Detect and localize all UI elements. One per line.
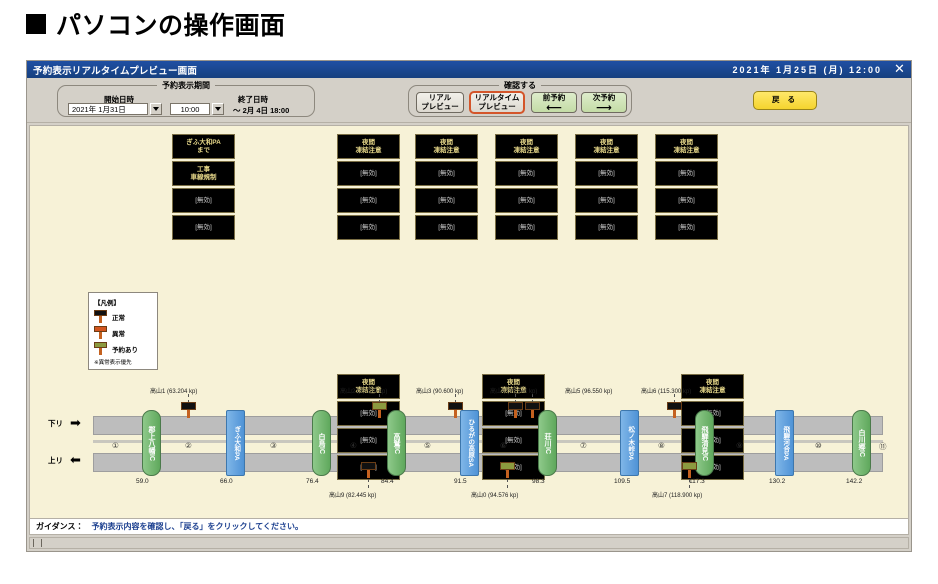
top-sign-panel-line: [無効]	[360, 197, 377, 204]
start-date-input[interactable]: 2021年 1月31日	[68, 103, 148, 115]
period-fieldset: 予約表示期間 開始日時 終了日時 2021年 1月31日 10:00 ～ 2月 …	[57, 85, 315, 117]
top-sign-panel-line: [無効]	[598, 170, 615, 177]
route-node-km: 130.2	[769, 478, 785, 485]
route-node-pa[interactable]: ひるがの高原SA	[460, 410, 479, 476]
kp-marker-label: 高山9 (82.445 kp)	[329, 490, 376, 499]
top-sign-panel[interactable]: 工事車線規制	[172, 161, 235, 186]
route-segment-number: ①	[112, 441, 119, 450]
kp-marker-label: 高山4 (95.940 kp)	[490, 386, 537, 395]
top-sign-panel-line: [無効]	[438, 224, 455, 231]
route-segment-number: ⑦	[580, 441, 587, 450]
start-time-dropdown-button[interactable]	[212, 103, 224, 115]
chevron-down-icon	[215, 107, 221, 111]
legend-item: 正常	[94, 310, 152, 323]
route-node-ic[interactable]: 白鳥IC	[312, 410, 331, 476]
kp-marker[interactable]	[525, 402, 540, 418]
legend-marker-icon	[94, 326, 107, 339]
top-sign-panel-line: 夜間	[680, 139, 693, 146]
top-sign-panel-line: [無効]	[678, 197, 695, 204]
top-sign-panel[interactable]: [無効]	[655, 215, 718, 240]
route-segment-number: ⑧	[658, 441, 665, 450]
end-datetime-value: ～ 2月 4日 18:00	[233, 105, 289, 116]
legend-rows: 正常異常予約あり	[94, 310, 152, 355]
real-preview-button[interactable]: リアル プレビュー	[416, 92, 464, 113]
kp-marker[interactable]	[500, 462, 515, 478]
legend-title: 【凡例】	[94, 297, 152, 307]
legend-item-label: 予約あり	[112, 344, 138, 354]
top-sign-panel-line: 凍結注意	[434, 147, 460, 154]
direction-down-label: 下リ	[48, 418, 63, 429]
route-node-km: 142.2	[846, 478, 862, 485]
kp-marker-head	[682, 462, 697, 470]
route-node-label: 郡上八幡IC	[148, 426, 155, 461]
kp-marker[interactable]	[361, 462, 376, 478]
route-node-pa[interactable]: 飛騨河合PA	[775, 410, 794, 476]
top-sign-panel-line: [無効]	[678, 170, 695, 177]
top-sign-panel-line: 夜間	[440, 139, 453, 146]
kp-marker[interactable]	[372, 402, 387, 418]
route-node-label: 松ノ木峠PA	[626, 426, 633, 461]
kp-marker-post	[367, 470, 370, 478]
window-titlebar: 予約表示リアルタイムプレビュー画面 2021年 1月25日 (月) 12:00 …	[27, 61, 911, 78]
route-node-km: 59.0	[136, 478, 149, 485]
window-title: 予約表示リアルタイムプレビュー画面	[33, 63, 197, 77]
close-icon[interactable]: ✕	[892, 62, 907, 77]
top-sign-panel-line: [無効]	[598, 224, 615, 231]
direction-up-label: 上リ	[48, 455, 63, 466]
kp-marker[interactable]	[181, 402, 196, 418]
route-preview-canvas: 下リ ➡ 上リ ⬅ ぎふ大和PAまで工事車線規制[無効][無効]夜間凍結注意[無…	[29, 125, 909, 520]
top-sign-panel-line: [無効]	[518, 224, 535, 231]
kp-marker[interactable]	[667, 402, 682, 418]
arrow-right-icon: ⟶	[596, 105, 612, 111]
kp-marker-stack	[682, 462, 697, 478]
application-window: 予約表示リアルタイムプレビュー画面 2021年 1月25日 (月) 12:00 …	[26, 60, 912, 552]
confirm-fieldset: 確認する リアル プレビュー リアルタイム プレビュー 前予約 ⟵ 次予約 ⟶	[408, 85, 632, 117]
route-node-ic[interactable]: 荘川IC	[538, 410, 557, 476]
legend-note: ※異常表示優先	[94, 358, 152, 366]
kp-marker-label: 高山0 (94.576 kp)	[471, 490, 518, 499]
top-sign-panel-line: [無効]	[518, 197, 535, 204]
top-sign-panel-line: 車線規制	[191, 174, 217, 181]
bottom-sign-panel-line: [無効]	[360, 437, 377, 444]
kp-marker-label: 高山7 (118.900 kp)	[652, 490, 702, 499]
top-sign-panel[interactable]: [無効]	[655, 161, 718, 186]
legend-item: 予約あり	[94, 342, 152, 355]
kp-marker-stack	[508, 402, 523, 418]
realtime-preview-button[interactable]: リアルタイム プレビュー	[469, 91, 525, 114]
top-sign-group: 夜間凍結注意[無効][無効][無効]	[415, 134, 478, 240]
top-sign-panel[interactable]: [無効]	[337, 215, 400, 240]
kp-marker-head	[500, 462, 515, 470]
kp-marker[interactable]	[682, 462, 697, 478]
kp-marker-post	[378, 410, 381, 418]
top-sign-panel-line: [無効]	[195, 197, 212, 204]
kp-marker-stack	[667, 402, 682, 418]
top-sign-panel[interactable]: 夜間凍結注意	[655, 134, 718, 159]
route-node-km: 98.3	[532, 478, 545, 485]
kp-marker-post	[531, 410, 534, 418]
kp-marker-head	[361, 462, 376, 470]
top-sign-panel-line: [無効]	[518, 170, 535, 177]
route-node-km: 66.0	[220, 478, 233, 485]
kp-marker-post	[506, 470, 509, 478]
route-node-label: 飛騨清見IC	[701, 426, 708, 461]
bottom-sign-panel-line: 凍結注意	[700, 387, 726, 394]
top-sign-panel-line: 凍結注意	[356, 147, 382, 154]
guidance-bar: ガイダンス： 予約表示内容を確認し、「戻る」をクリックしてください。	[29, 518, 909, 535]
legend-item: 異常	[94, 326, 152, 339]
top-sign-group: 夜間凍結注意[無効][無効][無効]	[495, 134, 558, 240]
kp-marker-leader	[689, 479, 690, 488]
real-preview-line2: プレビュー	[421, 103, 459, 112]
arrow-left-bold-icon: ⬅	[70, 453, 81, 466]
kp-marker-label: 高山2 (83.270 kp)	[340, 386, 387, 395]
top-sign-panel-line: 凍結注意	[514, 147, 540, 154]
kp-marker-head	[508, 402, 523, 410]
kp-marker-leader	[368, 479, 369, 488]
top-sign-group: 夜間凍結注意[無効][無効][無効]	[655, 134, 718, 240]
top-sign-panel-line: [無効]	[438, 170, 455, 177]
kp-marker-head	[448, 402, 463, 410]
top-sign-panel[interactable]: [無効]	[575, 161, 638, 186]
kp-marker-label: 高山6 (115.300 kp)	[641, 386, 691, 395]
kp-marker-stack	[525, 402, 540, 418]
status-bar	[29, 537, 909, 549]
chevron-down-icon	[153, 107, 159, 111]
top-sign-panel[interactable]: 夜間凍結注意	[337, 134, 400, 159]
top-sign-panel[interactable]: [無効]	[575, 188, 638, 213]
kp-marker-label: 高山5 (96.550 kp)	[565, 386, 612, 395]
route-node-label: ひるがの高原SA	[466, 419, 473, 467]
route-node-ic[interactable]: 白川郷IC	[852, 410, 871, 476]
kp-marker-post	[688, 470, 691, 478]
bottom-sign-panel[interactable]: [無効]	[482, 428, 545, 453]
top-sign-panel-line: 凍結注意	[674, 147, 700, 154]
clock-display: 2021年 1月25日 (月) 12:00	[732, 63, 882, 76]
top-sign-panel[interactable]: [無効]	[575, 215, 638, 240]
back-button[interactable]: 戻 る	[753, 91, 817, 110]
next-reservation-button[interactable]: 次予約 ⟶	[581, 92, 627, 113]
top-sign-panel[interactable]: [無効]	[172, 188, 235, 213]
legend-item-label: 異常	[112, 328, 125, 338]
end-datetime-label: 終了日時	[238, 94, 268, 105]
kp-marker-head	[525, 402, 540, 410]
top-sign-panel[interactable]: [無効]	[172, 215, 235, 240]
titlebar-right: 2021年 1月25日 (月) 12:00 ✕	[732, 62, 907, 77]
arrow-right-bold-icon: ➡	[70, 416, 81, 429]
legend-marker-icon	[94, 342, 107, 355]
kp-marker-head	[372, 402, 387, 410]
top-sign-panel-line: [無効]	[438, 197, 455, 204]
top-sign-panel-line: [無効]	[195, 224, 212, 231]
top-sign-panel[interactable]: [無効]	[415, 215, 478, 240]
top-sign-group: 夜間凍結注意[無効][無効][無効]	[575, 134, 638, 240]
route-segment-number: ②	[185, 441, 192, 450]
kp-marker-stack	[181, 402, 196, 418]
route-segment-number: ⑩	[815, 441, 822, 450]
top-sign-panel-line: 夜間	[362, 139, 375, 146]
kp-marker-head	[181, 402, 196, 410]
top-sign-panel-line: まで	[197, 147, 210, 154]
top-sign-panel-line: 工事	[197, 166, 210, 173]
kp-marker[interactable]	[448, 402, 463, 418]
kp-marker-leader	[507, 479, 508, 488]
top-sign-panel-line: [無効]	[360, 170, 377, 177]
top-sign-panel-line: [無効]	[678, 224, 695, 231]
route-segment-number: ⑤	[424, 441, 431, 450]
kp-marker-post	[187, 410, 190, 418]
top-sign-panel[interactable]: [無効]	[337, 161, 400, 186]
kp-marker-stack	[372, 402, 387, 418]
route-node-label: 高鷲IC	[393, 433, 400, 454]
bottom-sign-panel-line: [無効]	[505, 437, 522, 444]
route-node-label: ぎふ大和PA	[232, 426, 239, 461]
top-sign-panel-line: 凍結注意	[594, 147, 620, 154]
kp-marker-stack	[448, 402, 463, 418]
kp-marker[interactable]	[508, 402, 523, 418]
top-sign-panel-line: 夜間	[520, 139, 533, 146]
top-sign-group: ぎふ大和PAまで工事車線規制[無効][無効]	[172, 134, 235, 240]
confirm-legend: 確認する	[499, 80, 541, 91]
top-sign-panel-line: [無効]	[598, 197, 615, 204]
top-sign-panel[interactable]: [無効]	[337, 188, 400, 213]
top-sign-panel-line: [無効]	[360, 224, 377, 231]
top-sign-group: 夜間凍結注意[無効][無効][無効]	[337, 134, 400, 240]
top-sign-panel[interactable]: 夜間凍結注意	[415, 134, 478, 159]
realtime-preview-line2: プレビュー	[478, 103, 516, 112]
route-node-pa[interactable]: ぎふ大和PA	[226, 410, 245, 476]
route-node-km: 91.5	[454, 478, 467, 485]
route-segment-number: ④	[350, 441, 357, 450]
kp-marker-stack	[500, 462, 515, 478]
kp-marker-label: 高山1 (63.204 kp)	[150, 386, 197, 395]
kp-marker-post	[454, 410, 457, 418]
toolbar: 予約表示期間 開始日時 終了日時 2021年 1月31日 10:00 ～ 2月 …	[27, 78, 911, 123]
period-legend: 予約表示期間	[157, 80, 215, 91]
top-sign-panel[interactable]: [無効]	[415, 161, 478, 186]
route-segment-number: ⑨	[736, 441, 743, 450]
route-node-label: 飛騨河合PA	[781, 426, 788, 461]
legend-marker-icon	[94, 310, 107, 323]
bullet-square-icon	[26, 14, 46, 34]
legend-marker-post	[99, 316, 102, 323]
route-node-km: 117.3	[689, 478, 705, 485]
top-sign-panel[interactable]: [無効]	[415, 188, 478, 213]
kp-marker-post	[514, 410, 517, 418]
guidance-text: 予約表示内容を確認し、「戻る」をクリックしてください。	[92, 521, 304, 532]
route-node-ic[interactable]: 郡上八幡IC	[142, 410, 161, 476]
route-node-km: 109.5	[614, 478, 630, 485]
route-node-ic[interactable]: 高鷲IC	[387, 410, 406, 476]
top-sign-panel[interactable]: ぎふ大和PAまで	[172, 134, 235, 159]
top-sign-panel[interactable]: [無効]	[495, 161, 558, 186]
route-node-label: 白鳥IC	[318, 433, 325, 454]
legend-marker-post	[99, 332, 102, 339]
route-segment-number: ③	[270, 441, 277, 450]
start-date-dropdown-button[interactable]	[150, 103, 162, 115]
arrow-left-icon: ⟵	[546, 105, 562, 111]
top-sign-panel-line: ぎふ大和PA	[186, 139, 221, 146]
route-node-label: 荘川IC	[544, 433, 551, 454]
route-node-ic[interactable]: 飛騨清見IC	[695, 410, 714, 476]
resize-grip-icon	[33, 539, 42, 547]
kp-marker-head	[667, 402, 682, 410]
bottom-sign-panel-line: 夜間	[706, 379, 719, 386]
top-sign-panel-line: 夜間	[600, 139, 613, 146]
kp-marker-post	[673, 410, 676, 418]
kp-marker-stack	[361, 462, 376, 478]
route-node-km: 76.4	[306, 478, 319, 485]
figure-caption: パソコンの操作画面	[26, 6, 286, 42]
guidance-label: ガイダンス：	[36, 521, 84, 532]
top-sign-panel[interactable]: [無効]	[495, 188, 558, 213]
legend-box: 【凡例】 正常異常予約あり ※異常表示優先	[88, 292, 158, 370]
kp-marker-label: 高山3 (90.600 kp)	[416, 386, 463, 395]
start-time-input[interactable]: 10:00	[170, 103, 210, 115]
route-segment-number: ⑥	[500, 441, 507, 450]
route-node-km: 84.4	[381, 478, 394, 485]
legend-item-label: 正常	[112, 312, 125, 322]
top-sign-panel[interactable]: [無効]	[655, 188, 718, 213]
prev-reservation-button[interactable]: 前予約 ⟵	[531, 92, 577, 113]
legend-marker-post	[99, 348, 102, 355]
route-segment-number: ⑪	[879, 441, 887, 452]
route-node-label: 白川郷IC	[858, 429, 865, 457]
top-sign-panel[interactable]: [無効]	[495, 215, 558, 240]
top-sign-panel[interactable]: 夜間凍結注意	[575, 134, 638, 159]
top-sign-panel[interactable]: 夜間凍結注意	[495, 134, 558, 159]
route-node-pa[interactable]: 松ノ木峠PA	[620, 410, 639, 476]
figure-caption-text: パソコンの操作画面	[56, 6, 286, 42]
